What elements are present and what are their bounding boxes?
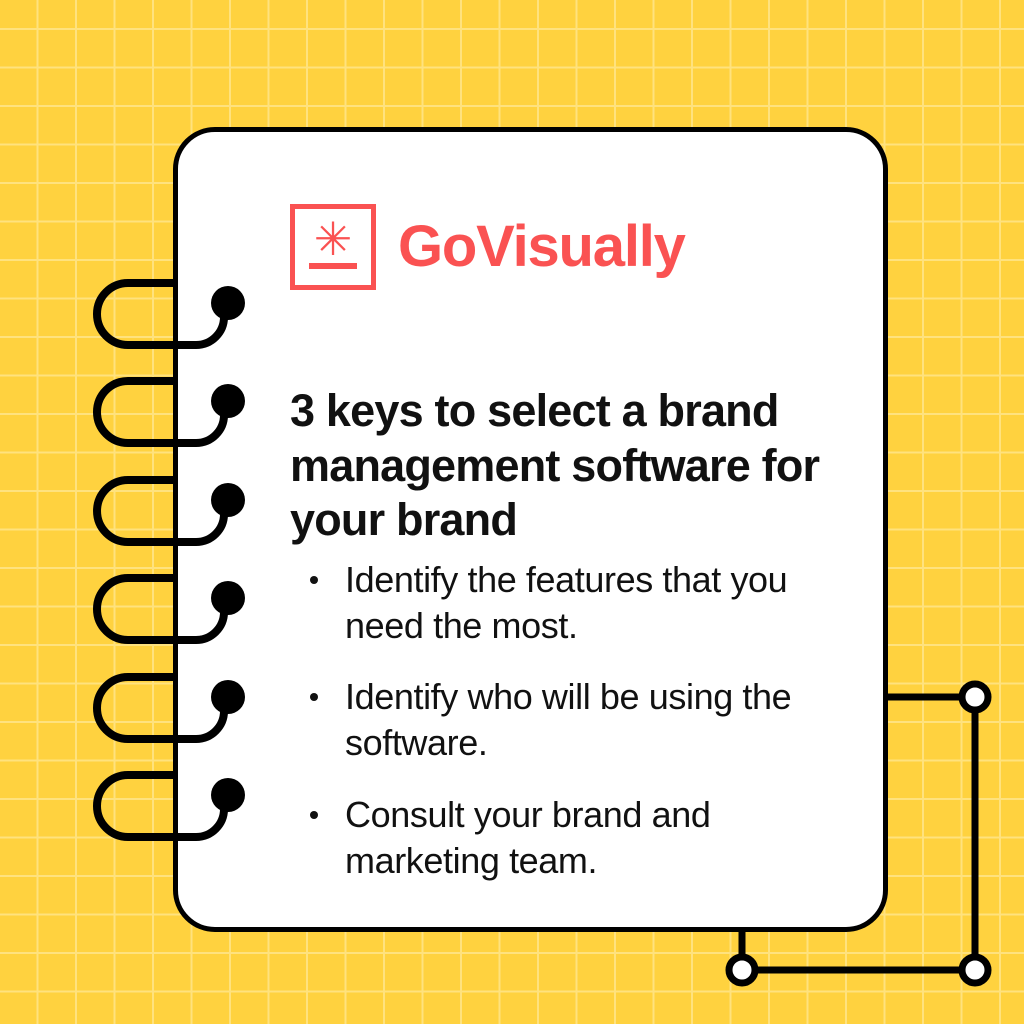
spiral-ring-inner: [170, 415, 224, 443]
spiral-ring-dot: [211, 778, 245, 812]
spiral-binding-inner: [0, 0, 1024, 1024]
spiral-ring-dot: [211, 286, 245, 320]
spiral-ring-inner: [170, 612, 224, 640]
spiral-ring-dot: [211, 581, 245, 615]
poster-canvas: ✳ GoVisually 3 keys to select a brand ma…: [0, 0, 1024, 1024]
spiral-ring-dot: [211, 680, 245, 714]
spiral-ring-inner: [170, 514, 224, 542]
spiral-ring-inner: [170, 809, 224, 837]
spiral-ring-inner: [170, 317, 224, 345]
spiral-ring-inner: [170, 711, 224, 739]
spiral-ring-dot: [211, 483, 245, 517]
spiral-ring-dot: [211, 384, 245, 418]
